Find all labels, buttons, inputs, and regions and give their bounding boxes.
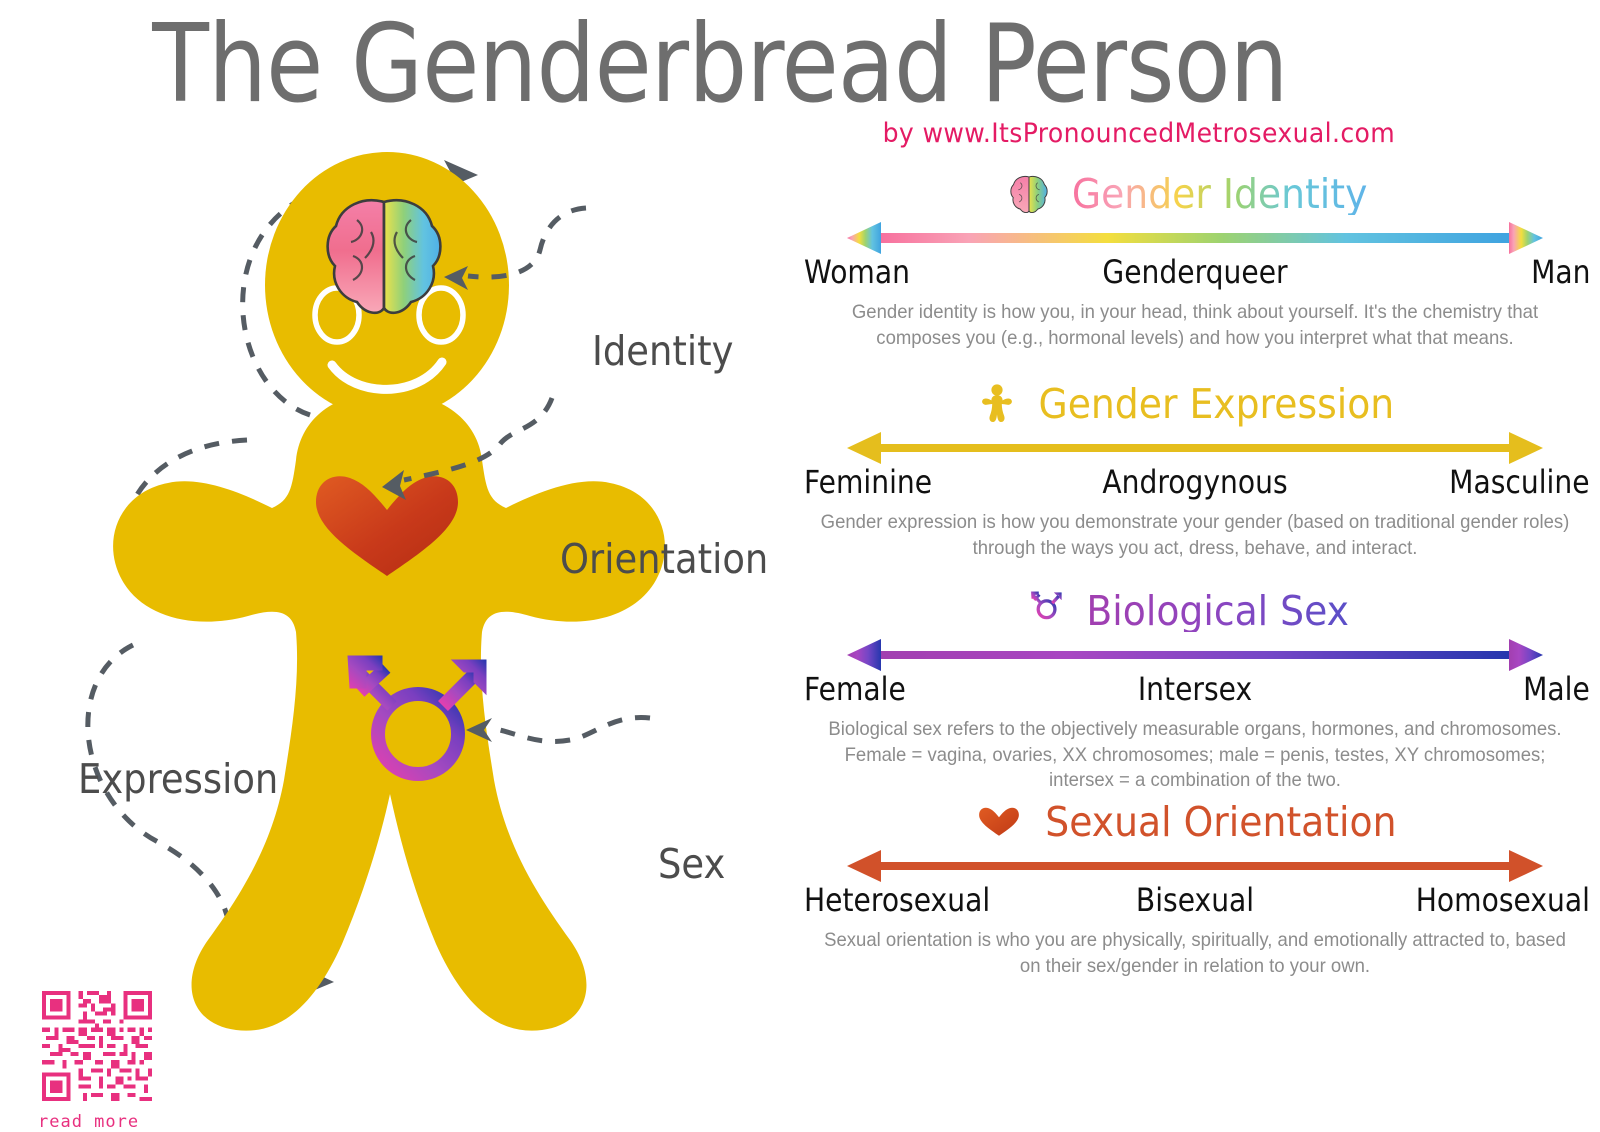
- qr-code-block[interactable]: read more: [38, 987, 156, 1132]
- spectrum-endpoints: Feminine Androgynous Masculine: [790, 463, 1600, 501]
- spectrum-gender-expression: Gender Expression Feminine Androgynous M…: [790, 378, 1600, 585]
- spectrum-description: Gender expression is how you demonstrate…: [810, 510, 1580, 561]
- spectrum-label-middle: Intersex: [1138, 670, 1252, 708]
- qr-read-more-label[interactable]: read more: [38, 1112, 156, 1132]
- sex-connector: [490, 718, 650, 742]
- spectrum-label-right: Man: [1531, 253, 1590, 291]
- spectrum-gender-identity: Gender Identity W: [790, 168, 1600, 378]
- qr-code-icon[interactable]: [38, 987, 156, 1105]
- genderbread-figure-illustration: [0, 140, 790, 1035]
- page-title: The Genderbread Person: [101, 8, 1339, 121]
- spectrum-title: Sexual Orientation: [1045, 802, 1396, 843]
- spectrum-label-right: Homosexual: [1416, 881, 1590, 919]
- spectrum-label-left: Woman: [804, 253, 910, 291]
- transgender-symbol-icon: [1029, 589, 1065, 633]
- genderbread-figure-area: Identity Orientation Expression Sex: [0, 140, 790, 1035]
- spectrum-label-middle: Genderqueer: [1102, 253, 1287, 291]
- callout-label-expression: Expression: [78, 755, 278, 803]
- brain-icon: [1009, 175, 1049, 213]
- spectrum-header: Gender Identity: [790, 168, 1600, 220]
- spectrum-title: Gender Identity: [1072, 174, 1368, 215]
- spectrum-biological-sex: Biological Sex Female Intersex: [790, 585, 1600, 796]
- spectrum-label-middle: Bisexual: [1136, 881, 1254, 919]
- callout-label-orientation: Orientation: [560, 535, 768, 583]
- spectrum-label-right: Masculine: [1450, 463, 1590, 501]
- spectrum-label-left: Heterosexual: [804, 881, 990, 919]
- spectrum-title: Gender Expression: [1038, 384, 1394, 425]
- spectrum-header: Biological Sex: [790, 585, 1600, 637]
- byline-credit: by www.ItsPronouncedMetrosexual.com: [883, 118, 1395, 149]
- spectrum-arrow-sexual-orientation: [845, 848, 1545, 884]
- spectrum-description: Gender identity is how you, in your head…: [810, 300, 1580, 351]
- spectrum-header: Gender Expression: [790, 378, 1600, 430]
- spectrum-endpoints: Female Intersex Male: [790, 670, 1600, 708]
- spectrum-label-left: Feminine: [804, 463, 932, 501]
- spectrum-title: Biological Sex: [1087, 591, 1350, 632]
- spectrum-arrow-gender-expression: [845, 430, 1545, 466]
- brain-icon: [328, 200, 441, 313]
- spectrum-description: Biological sex refers to the objectively…: [810, 717, 1580, 794]
- infographic-canvas: The Genderbread Person by www.ItsPronoun…: [0, 0, 1600, 1035]
- spectrum-arrow-biological-sex: [845, 637, 1545, 673]
- spectrum-description: Sexual orientation is who you are physic…: [810, 928, 1580, 979]
- spectrum-panel: Gender Identity W: [790, 168, 1600, 996]
- spectrum-label-left: Female: [804, 670, 906, 708]
- spectrum-endpoints: Woman Genderqueer Man: [790, 253, 1600, 291]
- spectrum-sexual-orientation: Sexual Orientation Heterosexual Bisexual…: [790, 796, 1600, 996]
- spectrum-endpoints: Heterosexual Bisexual Homosexual: [790, 881, 1600, 919]
- gingerbread-person-icon: [981, 384, 1013, 424]
- heart-icon: [978, 804, 1020, 840]
- callout-label-identity: Identity: [592, 327, 733, 375]
- callout-label-sex: Sex: [658, 840, 725, 888]
- spectrum-header: Sexual Orientation: [790, 796, 1600, 848]
- spectrum-label-middle: Androgynous: [1102, 463, 1287, 501]
- spectrum-arrow-gender-identity: [845, 220, 1545, 256]
- spectrum-label-right: Male: [1523, 670, 1590, 708]
